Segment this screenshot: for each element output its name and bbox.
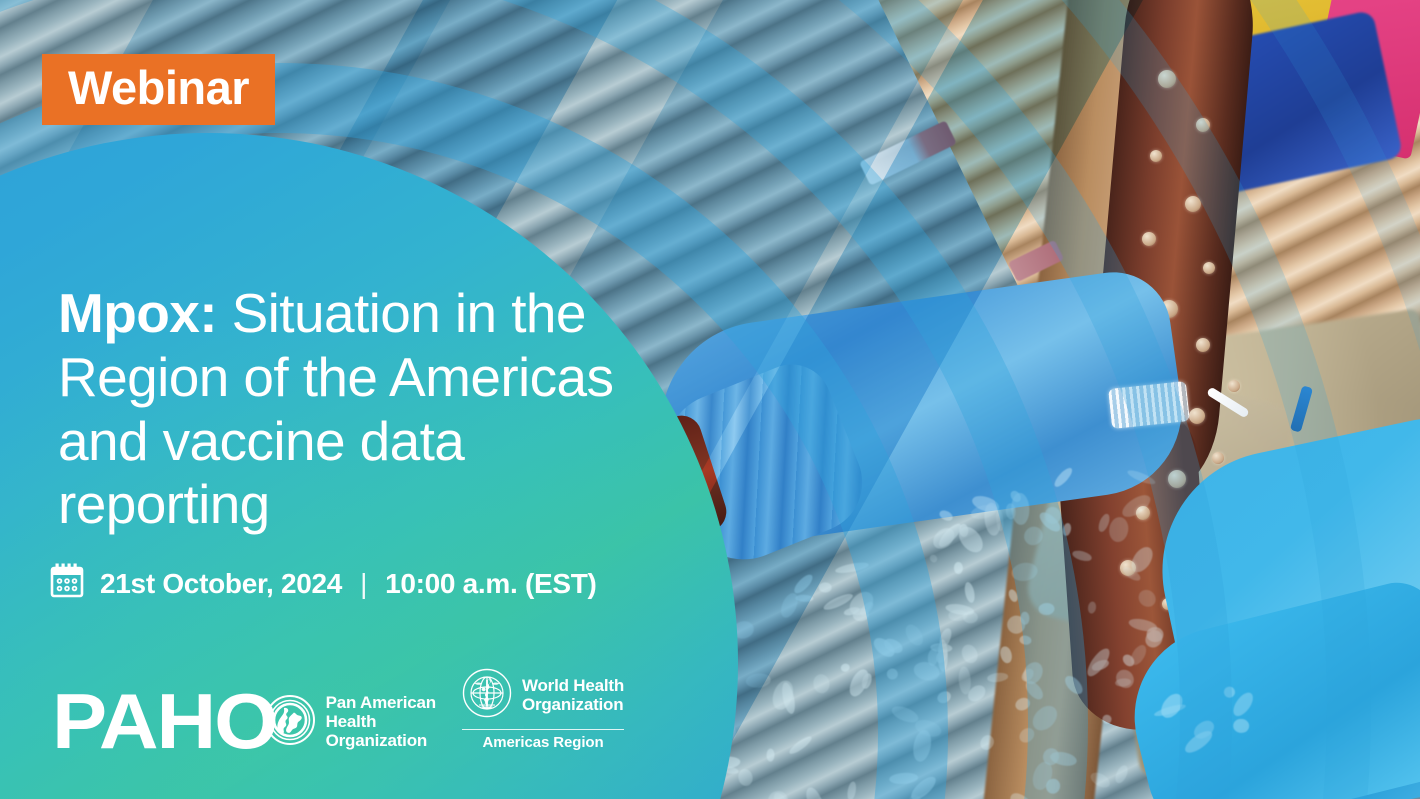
paho-wordmark: PAHO bbox=[52, 688, 276, 755]
who-org-lockup: World Health Organization Americas Regio… bbox=[462, 668, 624, 751]
webinar-badge: Webinar bbox=[42, 54, 275, 125]
paho-name-line-1: Pan American bbox=[326, 693, 436, 712]
who-name-line-1: World Health bbox=[522, 676, 624, 695]
banner-content: Webinar Mpox: Situation in the Region of… bbox=[0, 0, 1420, 799]
who-name-line-2: Organization bbox=[522, 695, 624, 714]
who-divider-rule bbox=[462, 729, 624, 730]
who-region-label: Americas Region bbox=[462, 734, 624, 751]
paho-org-name: Pan American Health Organization bbox=[326, 694, 436, 750]
who-rod-of-asclepius-emblem-icon bbox=[462, 668, 512, 723]
event-datetime: 21st October, 2024 | 10:00 a.m. (EST) bbox=[50, 562, 597, 605]
webinar-promo-banner: Webinar Mpox: Situation in the Region of… bbox=[0, 0, 1420, 799]
event-time: 10:00 a.m. (EST) bbox=[385, 568, 597, 600]
paho-name-line-3: Organization bbox=[326, 731, 428, 750]
logo-lockup: PAHO bbox=[52, 668, 624, 755]
who-name-row: World Health Organization bbox=[462, 668, 624, 723]
page-title: Mpox: Situation in the Region of the Ame… bbox=[58, 282, 658, 537]
paho-org-lockup: Pan American Health Organization bbox=[264, 694, 436, 751]
title-lead: Mpox: bbox=[58, 282, 217, 344]
datetime-separator: | bbox=[358, 568, 369, 600]
calendar-icon bbox=[50, 562, 84, 605]
who-org-name: World Health Organization bbox=[522, 677, 624, 714]
paho-name-line-2: Health bbox=[326, 712, 377, 731]
event-date: 21st October, 2024 bbox=[100, 568, 342, 600]
